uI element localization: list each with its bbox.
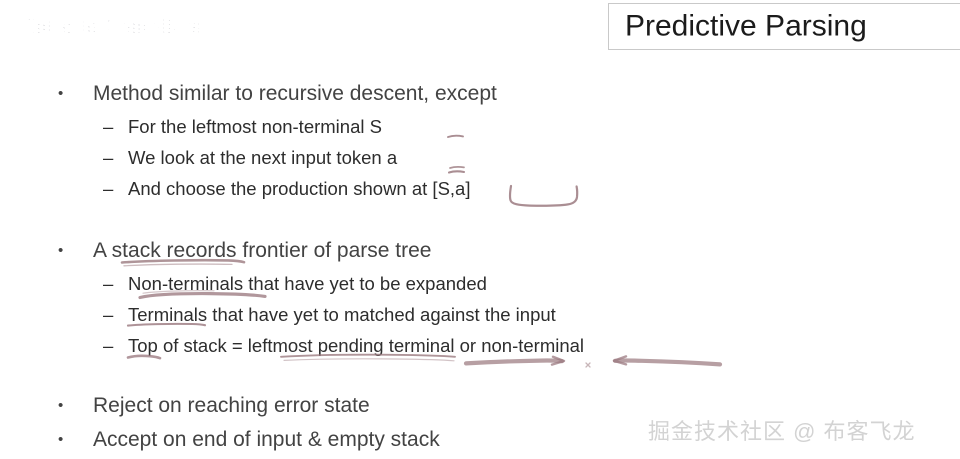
handwritten-annotation-layer: [0, 0, 960, 459]
bullet-marker-icon: •: [58, 397, 93, 414]
bullet-label: Reject on reaching error state: [93, 394, 370, 417]
bullet-label: Method similar to recursive descent, exc…: [93, 82, 497, 105]
underline-token-a: [449, 171, 464, 172]
arrow-right-pointing-left: [615, 361, 720, 365]
underline-token-a-upper: [450, 167, 464, 168]
sub-bullet-label: And choose the production shown at [S,a]: [128, 178, 470, 199]
sub-bullet-label: Top of stack = leftmost pending terminal…: [128, 335, 584, 356]
bracket-under-table-entry: [510, 186, 577, 206]
dash-marker-icon: –: [103, 178, 128, 200]
arrow-right-head-icon: [614, 356, 626, 364]
bullet-item: •A stack records frontier of parse tree: [58, 239, 431, 263]
slide-canvas: Intro to Compilers Predictive Parsing •M…: [0, 0, 960, 459]
dash-marker-icon: –: [103, 147, 128, 169]
bullet-marker-icon: •: [58, 431, 93, 448]
dash-marker-icon: –: [103, 304, 128, 326]
faded-handwriting-note: Intro to Compilers: [28, 14, 258, 44]
bullet-label: Accept on end of input & empty stack: [93, 428, 440, 451]
underline-leftmost-pending-terminal-second-pass: [284, 359, 454, 361]
sub-bullet-item: –And choose the production shown at [S,a…: [103, 178, 470, 200]
underline-symbol-S: [448, 136, 463, 137]
sub-bullet-item: –Non-terminals that have yet to be expan…: [103, 273, 487, 295]
sub-bullet-label: Terminals that have yet to matched again…: [128, 304, 556, 325]
underline-stack-records-second-pass: [124, 264, 232, 266]
sub-bullet-label: Non-terminals that have yet to be expand…: [128, 273, 487, 294]
bullet-item: •Reject on reaching error state: [58, 394, 370, 418]
sub-bullet-item: –Terminals that have yet to matched agai…: [103, 304, 556, 326]
focus-dot: [586, 363, 590, 367]
bullet-item: •Accept on end of input & empty stack: [58, 428, 440, 452]
page-title: Predictive Parsing: [625, 9, 867, 43]
sub-bullet-item: –We look at the next input token a: [103, 147, 397, 169]
bullet-label: A stack records frontier of parse tree: [93, 239, 431, 262]
sub-bullet-label: For the leftmost non-terminal S: [128, 116, 382, 137]
sub-bullet-label: We look at the next input token a: [128, 147, 397, 168]
arrow-left-head-icon: [552, 357, 564, 365]
sub-bullet-item: –For the leftmost non-terminal S: [103, 116, 382, 138]
dash-marker-icon: –: [103, 273, 128, 295]
arrow-left-pointing-right: [466, 361, 562, 364]
dash-marker-icon: –: [103, 116, 128, 138]
dash-marker-icon: –: [103, 335, 128, 357]
bullet-marker-icon: •: [58, 242, 93, 259]
bullet-item: •Method similar to recursive descent, ex…: [58, 82, 497, 106]
sub-bullet-item: –Top of stack = leftmost pending termina…: [103, 335, 584, 357]
watermark: 掘金技术社区 @ 布客飞龙: [648, 414, 916, 446]
title-box: Predictive Parsing: [608, 3, 960, 50]
bullet-marker-icon: •: [58, 85, 93, 102]
